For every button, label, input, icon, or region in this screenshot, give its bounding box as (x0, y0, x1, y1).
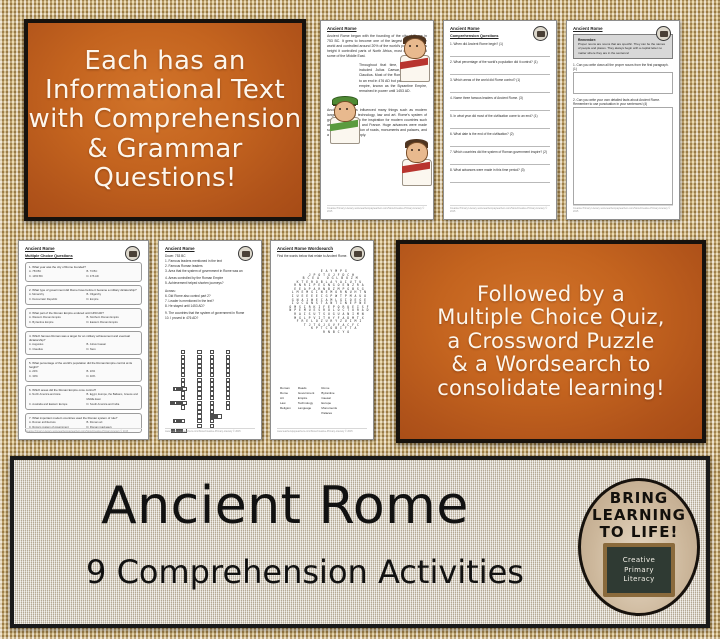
quiz-option[interactable]: B. Roman art (87, 421, 139, 425)
chalk-line-3: Literacy (623, 575, 654, 584)
quiz-option[interactable]: D. Nero (87, 348, 139, 352)
quiz-question-text: 2. What type of government did Rome have… (29, 288, 138, 292)
crossword-cell[interactable] (181, 405, 185, 409)
logo-stamp-icon (238, 246, 253, 261)
question-text: 7. Which countries did the system of Rom… (450, 150, 550, 154)
sheet-footer: Creative Primary Literacy www.teacherspa… (327, 205, 427, 213)
answer-line[interactable] (450, 155, 550, 165)
wordsearch-word: Language (298, 406, 315, 411)
question-text: 6. What date is the end of the civilisat… (450, 132, 550, 136)
logo-line-1: BRING (592, 490, 686, 507)
question-list: 1. When did Ancient Rome begin? (1) 2. W… (450, 42, 550, 183)
title-banner: Ancient Rome 9 Comprehension Activities … (10, 456, 710, 628)
quiz-question-text: 7. What important modern countries used … (29, 416, 138, 420)
crossword-clue-list: Down: 753 BC 1. Famous leaders mentioned… (165, 254, 255, 320)
crossword-cell[interactable] (217, 414, 221, 418)
crossword-clue: Across: (165, 289, 255, 293)
sheet-footer: Creative Primary Literacy www.teacherspa… (573, 205, 673, 213)
sheet-footer: www.teacherspayteachers.com/Store/Creati… (165, 428, 255, 433)
worksheet-comprehension-questions[interactable]: Ancient Rome Comprehension Questions 1. … (443, 20, 557, 220)
crossword-clue: 10. I proved in 476 AD? (165, 316, 255, 320)
quiz-question[interactable]: 5. What percentage of the world's popula… (25, 358, 142, 382)
answer-line[interactable] (450, 137, 550, 147)
quiz-option[interactable]: B. Egypt, Europe, the Balkans, Greece an… (87, 393, 139, 401)
quiz-option[interactable]: A. Augustus (29, 343, 81, 347)
crossword-clue: 2. Famous Roman leaders (165, 264, 255, 268)
quiz-option[interactable]: C. 1453 BC (29, 275, 81, 279)
crossword-clue: 9. The countries that the system of gove… (165, 311, 255, 315)
page-title: Ancient Rome (14, 476, 556, 536)
quiz-option[interactable]: C. Claudius (29, 348, 81, 352)
quiz-question[interactable]: 3. What part of the Roman Empire endured… (25, 308, 142, 328)
page-subtitle: 9 Comprehension Activities (14, 553, 596, 591)
quiz-option[interactable]: C. Australia and Eastern Europe (29, 403, 81, 407)
quiz-option[interactable]: D. Empire (87, 298, 139, 302)
chalkboard-icon: Creative Primary Literacy (603, 543, 675, 597)
wordsearch-word-column: RoadsGovernmentEmpireTechnologyLanguage (298, 386, 315, 417)
worksheet-grammar-questions[interactable]: Ancient Rome Remember: Proper nouns are … (566, 20, 680, 220)
quiz-question-text: 5. What percentage of the world's popula… (29, 361, 138, 369)
quiz-option[interactable]: D. South America and India (87, 403, 139, 407)
quiz-question-text: 1. What year was the city of Rome founde… (29, 265, 138, 269)
logo-stamp-icon (350, 246, 365, 261)
roman-figure-wreath-icon (329, 96, 359, 142)
roman-figure-icon (401, 138, 431, 184)
crossword-cell[interactable] (182, 387, 186, 391)
worksheet-crossword[interactable]: Ancient Rome Down: 753 BC 1. Famous lead… (158, 240, 262, 440)
crossword-cell[interactable] (182, 401, 186, 405)
sheet-footer: Creative Primary Literacy www.teacherspa… (450, 205, 550, 213)
quiz-option[interactable]: B. Northern Roman Empire (87, 316, 139, 320)
question-text: 1. Can you write down all the proper nou… (573, 63, 673, 71)
quiz-option[interactable]: A. 20% (29, 370, 81, 374)
answer-line[interactable] (450, 47, 550, 57)
logo-stamp-icon (656, 26, 671, 41)
question-text: 2. What percentage of the world's popula… (450, 60, 550, 64)
quiz-question-text: 6. Which areas did the Roman Empire once… (29, 388, 138, 392)
wordsearch-word-column: RomanRomeArtLawReligion (280, 386, 291, 417)
quiz-question[interactable]: 6. Which areas did the Roman Empire once… (25, 385, 142, 409)
remember-body: Proper nouns are nouns that are specific… (578, 42, 668, 55)
quiz-option[interactable]: C. Byzantine Empire (29, 321, 81, 325)
quiz-question[interactable]: 4. Which famous Roman was a target for a… (25, 331, 142, 355)
question-text: 2. Can you write your own detailed facts… (573, 98, 673, 106)
logo-line-2: LEARNING (592, 507, 686, 524)
chalk-line-2: Primary (624, 566, 654, 575)
answer-line[interactable] (450, 119, 550, 129)
quiz-option[interactable]: A. Monarchy (29, 293, 81, 297)
worksheet-multiple-choice-quiz[interactable]: Ancient Rome Multiple Choice Questions 1… (18, 240, 149, 440)
crossword-clue: 3. Area that the system of government in… (165, 269, 255, 273)
crossword-clue: 4. Areas controlled by the Roman Empire (165, 276, 255, 280)
promo-panel-informational-text-label: Each has an Informational Text with Comp… (29, 47, 302, 193)
answer-line[interactable] (450, 173, 550, 183)
quiz-question[interactable]: 1. What year was the city of Rome founde… (25, 262, 142, 282)
quiz-question-text: 3. What part of the Roman Empire endured… (29, 311, 138, 315)
quiz-question-text: 4. Which famous Roman was a target for a… (29, 334, 138, 342)
quiz-option[interactable]: B. 10% (87, 370, 139, 374)
sheet-footer: Creative Primary Literacy www.teacherspa… (25, 428, 142, 433)
sheet-footer: www.teacherspayteachers.com/Store/Creati… (277, 428, 367, 433)
crossword-clue: 8. He stayed until 1453 AD? (165, 304, 255, 308)
logo-stamp-icon (125, 246, 140, 261)
crossword-grid[interactable] (169, 350, 262, 430)
worksheet-wordsearch[interactable]: Ancient Rome Wordsearch Find the words b… (270, 240, 374, 440)
quiz-question-list: 1. What year was the city of Rome founde… (25, 262, 142, 433)
question-text: 1. When did Ancient Rome begin? (1) (450, 42, 550, 46)
crossword-cell[interactable] (181, 419, 185, 423)
quiz-option[interactable]: A. Western Roman Empire (29, 316, 81, 320)
question-text: 5. In what year did most of the civilisa… (450, 114, 550, 118)
question-text: 8. What advances were made in this time … (450, 168, 550, 172)
crossword-clue: 5. Achievement helped shorten journeys? (165, 281, 255, 285)
wordsearch-grid[interactable]: E A Y M P G J P O T G J F D C H B C E A … (279, 270, 374, 334)
question-text: 3. Which areas of the world did Rome con… (450, 78, 550, 82)
wordsearch-word: Palaces (321, 411, 337, 416)
logo-stamp-icon (533, 26, 548, 41)
sheet-title: Ancient Rome (327, 26, 427, 31)
wordsearch-word-column: RomeByzantineCaesarEuropeMonumentsPalace… (321, 386, 337, 417)
crossword-clue: 6. Did Rome also control part 2? (165, 294, 255, 298)
answer-line[interactable] (450, 83, 550, 93)
quiz-option[interactable]: A. 753 BC (29, 270, 81, 274)
quiz-option[interactable]: C. Democratic Republic (29, 298, 81, 302)
crossword-clue: 7. Leader is mentioned in the text? (165, 299, 255, 303)
promo-panel-quiz-crossword-wordsearch-label: Followed by a Multiple Choice Quiz, a Cr… (437, 283, 665, 401)
answer-area[interactable] (573, 107, 673, 205)
quiz-option[interactable]: B. Julius Caesar (87, 343, 139, 347)
chalk-line-1: Creative (623, 556, 656, 565)
wordsearch-word-list: RomanRomeArtLawReligion RoadsGovernmentE… (280, 386, 337, 417)
quiz-option[interactable]: A. North America and Asia (29, 393, 81, 401)
promo-panel-informational-text: Each has an Informational Text with Comp… (24, 19, 306, 221)
quiz-question[interactable]: 2. What type of government did Rome have… (25, 285, 142, 305)
quiz-option[interactable]: B. Oligarchy (87, 293, 139, 297)
logo-line-3: TO LIFE! (592, 524, 686, 541)
quiz-option[interactable]: A. Roman architecture (29, 421, 81, 425)
answer-line[interactable] (450, 65, 550, 75)
crossword-cell[interactable] (226, 405, 230, 409)
question-text: 4. Name three famous leaders of Ancient … (450, 96, 550, 100)
wordsearch-word: Religion (280, 406, 291, 411)
answer-area[interactable] (573, 72, 673, 94)
quiz-option[interactable]: B. 73 BC (87, 270, 139, 274)
quiz-option[interactable]: D. 40% (87, 375, 139, 379)
quiz-option[interactable]: D. Eastern Roman Empire (87, 321, 139, 325)
promo-panel-quiz-crossword-wordsearch: Followed by a Multiple Choice Quiz, a Cr… (396, 240, 706, 443)
answer-line[interactable] (450, 101, 550, 111)
worksheet-informational-text[interactable]: Ancient Rome Ancient Rome began with the… (320, 20, 434, 220)
roman-figure-icon (399, 34, 429, 80)
quiz-option[interactable]: D. 476 AD (87, 275, 139, 279)
quiz-option[interactable]: C. 30% (29, 375, 81, 379)
brand-logo-badge: BRING LEARNING TO LIFE! Creative Primary… (578, 478, 700, 616)
